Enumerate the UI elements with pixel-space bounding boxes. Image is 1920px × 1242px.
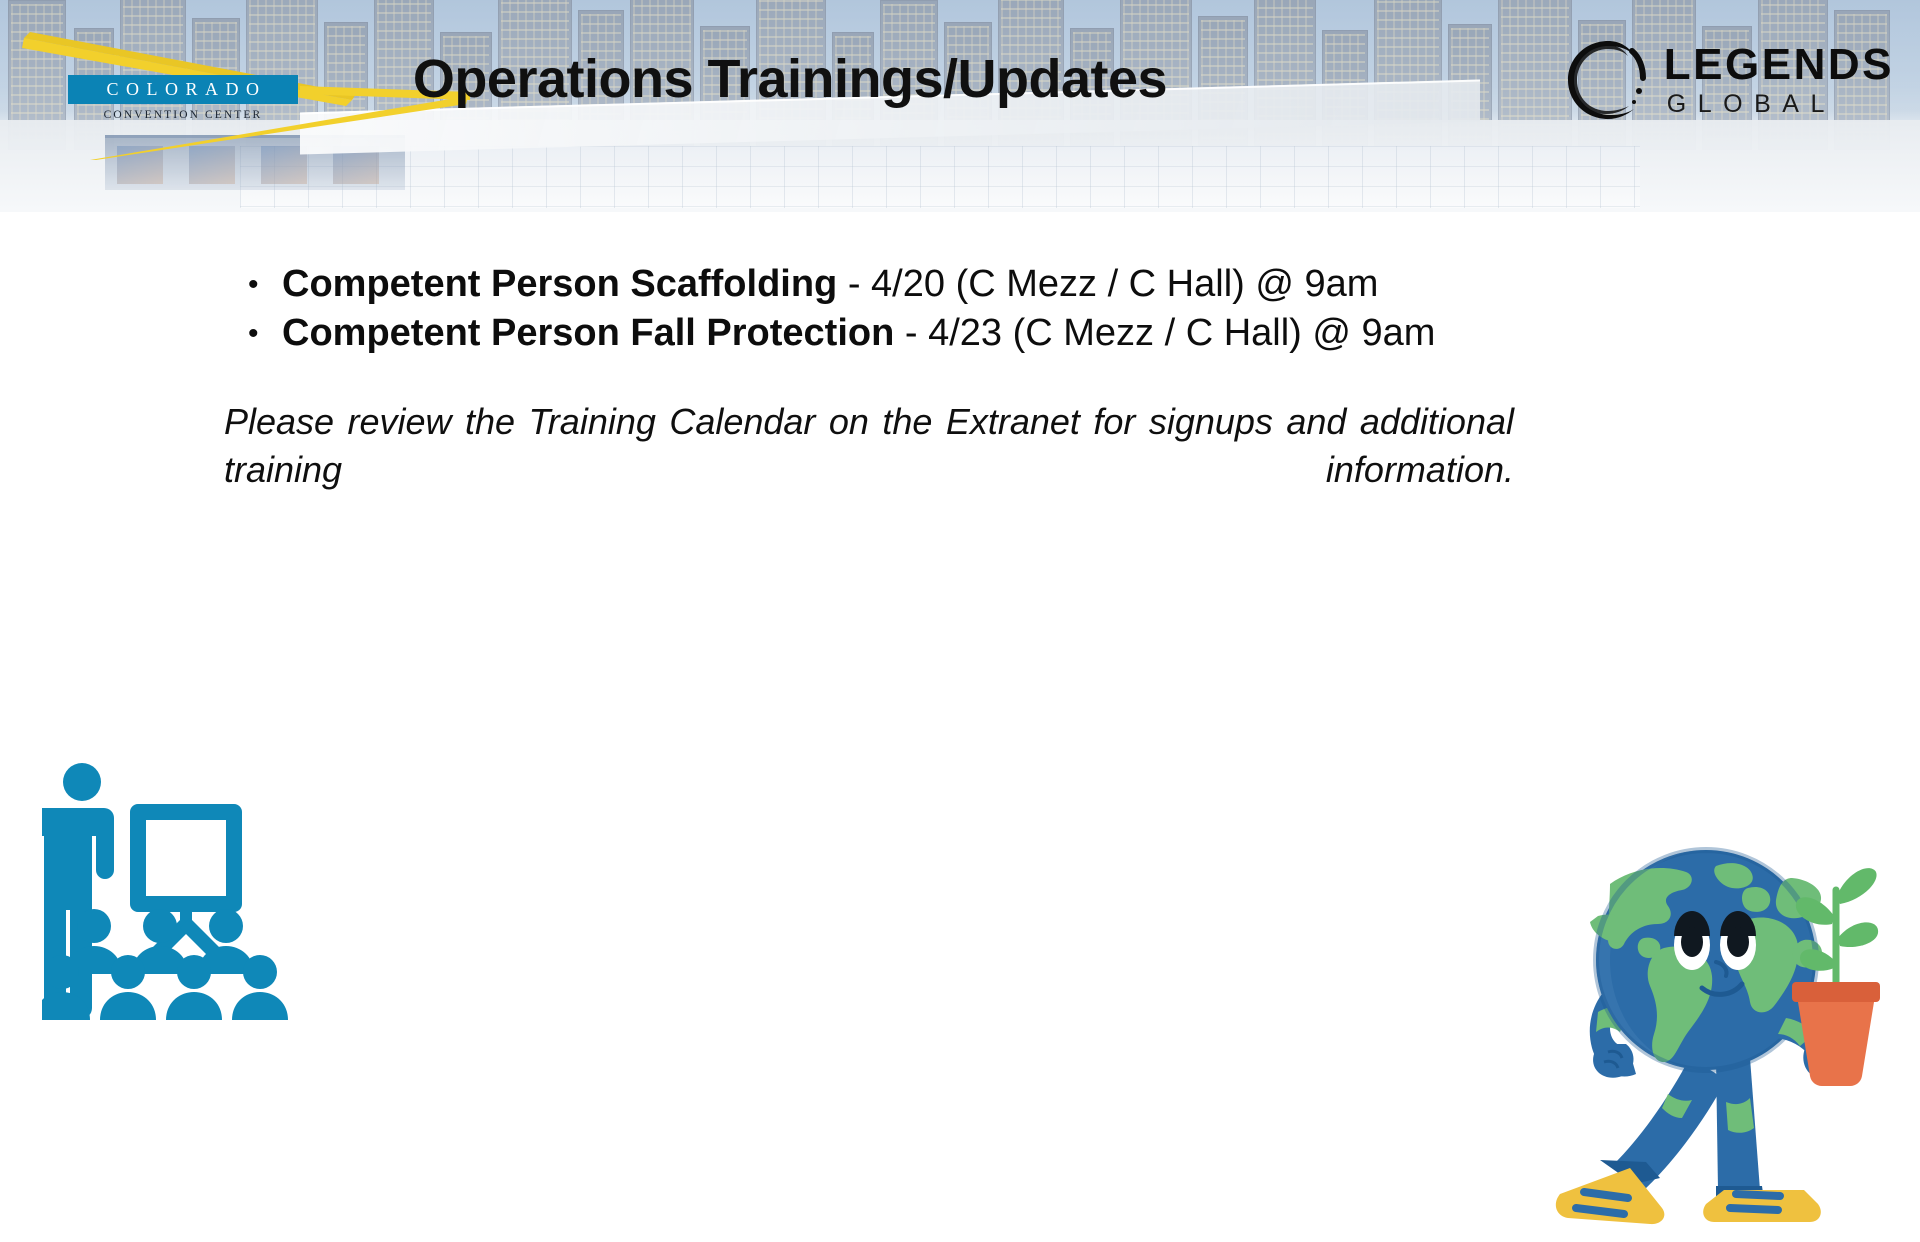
sandal-right-icon	[1703, 1186, 1821, 1222]
legends-wordmark: LEGENDS	[1664, 43, 1894, 87]
training-presentation-icon	[42, 760, 332, 1020]
bullet-title: Competent Person Scaffolding	[282, 263, 837, 305]
venue-logo-subtitle: CONVENTION CENTER	[68, 109, 298, 121]
legends-global-logo: LEGENDS GLOBAL	[1562, 36, 1894, 124]
venue-logo-bar-text: COLORADO	[99, 79, 266, 100]
sandal-left-icon	[1556, 1160, 1665, 1224]
slide: COLORADO CONVENTION CENTER Operations Tr…	[0, 0, 1920, 1080]
training-calendar-note: Please review the Training Calendar on t…	[224, 398, 1514, 542]
bullet-marker-icon: •	[248, 270, 282, 300]
bullet-detail: - 4/23 (C Mezz / C Hall) @ 9am	[894, 312, 1435, 354]
list-item: • Competent Person Scaffolding - 4/20 (C…	[248, 260, 1668, 309]
training-bullet-list: • Competent Person Scaffolding - 4/20 (C…	[248, 260, 1668, 357]
bullet-detail: - 4/20 (C Mezz / C Hall) @ 9am	[837, 263, 1378, 305]
legends-subwordmark: GLOBAL	[1664, 92, 1894, 117]
globe-character-with-plant-illustration	[1540, 842, 1880, 1242]
audience-row-1	[66, 909, 254, 974]
colorado-convention-center-logo: COLORADO CONVENTION CENTER	[68, 75, 298, 121]
venue-logo-bar: COLORADO	[68, 75, 298, 104]
bullet-marker-icon: •	[248, 319, 282, 349]
list-item: • Competent Person Fall Protection - 4/2…	[248, 309, 1668, 358]
bullet-title: Competent Person Fall Protection	[282, 312, 894, 354]
slide-header: COLORADO CONVENTION CENTER Operations Tr…	[0, 0, 1920, 212]
brush-circle-icon	[1562, 36, 1650, 124]
page-title: Operations Trainings/Updates	[360, 48, 1220, 110]
